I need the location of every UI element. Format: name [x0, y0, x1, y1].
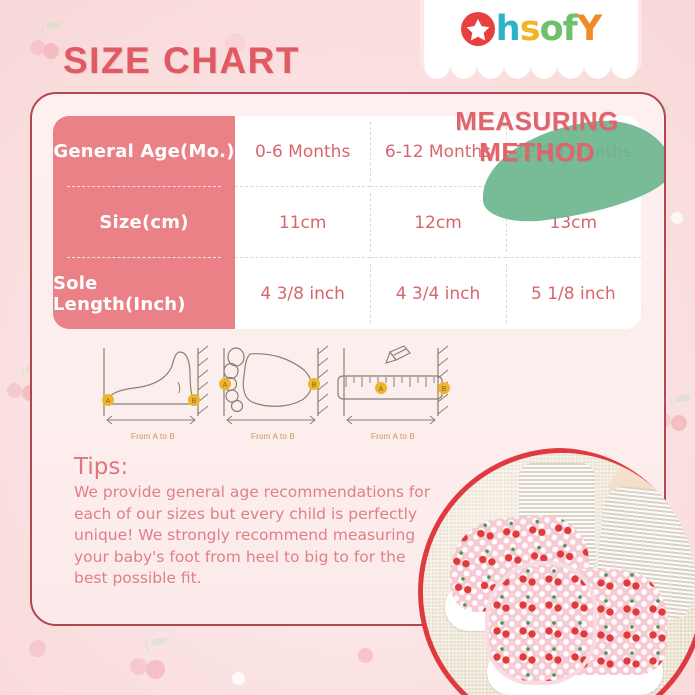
table-row-header-age: General Age(Mo.): [53, 116, 235, 187]
shoe-strap: [485, 561, 597, 685]
bg-dot: [671, 212, 683, 224]
foot-side-view-diagram: A B From A to B: [94, 344, 212, 439]
logo-letter-o2: o: [540, 12, 563, 46]
svg-text:B: B: [312, 382, 317, 389]
svg-text:B: B: [192, 398, 197, 405]
logo-letter-s: s: [520, 12, 540, 46]
tips-section: Tips: We provide general age recommendat…: [74, 454, 434, 590]
logo-letter-f: f: [563, 12, 577, 46]
brand-logo: h s o f Y: [424, 8, 638, 50]
table-row-header-size: Size(cm): [53, 187, 235, 258]
svg-text:A: A: [223, 382, 228, 389]
measuring-method-line1: MEASURING: [432, 106, 642, 137]
tips-body: We provide general age recommendations f…: [74, 482, 434, 590]
brand-logo-banner: h s o f Y: [424, 0, 638, 68]
svg-text:A: A: [379, 386, 384, 393]
foot-top-view-diagram: A B From A to B: [214, 344, 332, 439]
table-cell: 4 3/8 inch: [235, 258, 370, 329]
measuring-method-line2: METHOD: [432, 137, 642, 168]
measuring-method-heading: MEASURING METHOD: [432, 106, 642, 168]
tips-title: Tips:: [74, 454, 434, 480]
ruler-diagram: A B From A to B: [334, 344, 452, 439]
shoe-cherry-pattern: [489, 565, 593, 681]
table-cell: 11cm: [235, 187, 370, 258]
table-cell: 5 1/8 inch: [506, 258, 641, 329]
page-title: SIZE CHART: [63, 40, 300, 82]
logo-letter-o-icon: [461, 12, 495, 46]
bg-dot: [358, 648, 373, 663]
svg-text:A: A: [106, 398, 111, 405]
bg-dot: [29, 640, 46, 657]
bg-dot: [232, 672, 245, 685]
table-cell: 0-6 Months: [235, 116, 370, 187]
svg-text:B: B: [442, 386, 447, 393]
scallop-edge: [424, 66, 638, 79]
measuring-diagrams: A B From A to B: [46, 344, 406, 439]
table-cell: 4 3/4 inch: [370, 258, 505, 329]
bg-cherry-icon: [123, 638, 171, 682]
product-photo-circle: [418, 448, 695, 695]
size-chart-page: SIZE CHART h s o f Y General Age(Mo.) 0-…: [0, 0, 695, 695]
logo-letter-y: Y: [577, 12, 601, 46]
logo-letter-h: h: [496, 12, 520, 46]
product-photo: [418, 448, 695, 695]
table-row-header-sole: Sole Length(Inch): [53, 258, 235, 329]
diagram-label: From A to B: [214, 432, 332, 441]
bg-cherry-icon: [20, 22, 64, 62]
diagram-label: From A to B: [94, 432, 212, 441]
diagram-label: From A to B: [334, 432, 452, 441]
